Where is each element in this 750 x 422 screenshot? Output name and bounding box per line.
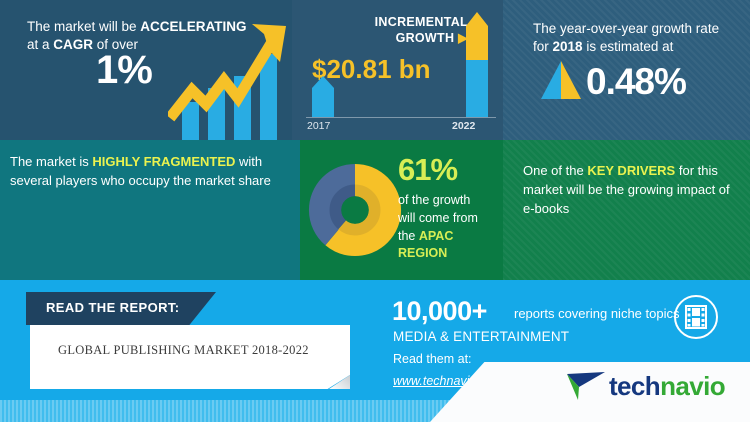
fragmentation-text: The market is HIGHLY FRAGMENTED with sev… [10, 153, 298, 191]
report-title-card[interactable]: GLOBAL PUBLISHING MARKET 2018-2022 [30, 325, 350, 389]
yoy-headline: The year-over-year growth rate for 2018 … [533, 20, 748, 55]
incremental-growth-chart [306, 10, 496, 118]
incremental-chart-axis [306, 117, 496, 118]
read-the-report-tab: READ THE REPORT: [26, 292, 216, 325]
yoy-value: 0.48% [586, 58, 686, 106]
incremental-growth-panel: INCREMENTAL GROWTH ▶ $20.81 bn 2017 2022 [292, 0, 503, 140]
middle-row: The market is HIGHLY FRAGMENTED with sev… [0, 140, 750, 280]
film-strip-icon [673, 294, 719, 340]
drivers-text-1: One of the [523, 163, 587, 178]
incremental-axis-label-end: 2022 [452, 120, 475, 132]
market-fragmentation-panel: The market is HIGHLY FRAGMENTED with sev… [0, 140, 300, 280]
apac-sub-2: will come from [398, 211, 478, 225]
reports-caption: reports covering niche topics [514, 306, 679, 321]
key-drivers-text: One of the KEY DRIVERS for this market w… [523, 162, 738, 219]
report-title: GLOBAL PUBLISHING MARKET 2018-2022 [58, 343, 309, 358]
apac-share-donut [306, 154, 404, 266]
drivers-highlight: KEY DRIVERS [587, 163, 675, 178]
apac-value: 61% [398, 152, 457, 188]
reports-count: 10,000+ [392, 296, 487, 327]
triangle-up-icon [540, 60, 582, 100]
yoy-growth-panel: The year-over-year growth rate for 2018 … [503, 0, 750, 140]
logo-text-navio: navio [660, 371, 725, 401]
logo-text-tech: tech [609, 371, 660, 401]
cagr-text-1: The market will be [27, 19, 140, 34]
apac-sub-1: of the growth [398, 193, 470, 207]
yoy-year: 2018 [553, 39, 583, 54]
read-them-at-label: Read them at: [393, 352, 472, 366]
apac-region-bold: APAC [419, 229, 454, 243]
fragmentation-text-1: The market is [10, 154, 92, 169]
infographic-root: The market will be ACCELERATING at a CAG… [0, 0, 750, 422]
yoy-text-3: is estimated at [583, 39, 674, 54]
cagr-text-2: at a [27, 37, 53, 52]
fragmentation-highlight: HIGHLY FRAGMENTED [92, 154, 235, 169]
cagr-value: 1% [96, 44, 152, 96]
technavio-wordmark: technavio [609, 371, 725, 402]
cagr-panel: The market will be ACCELERATING at a CAG… [0, 0, 292, 140]
apac-growth-panel: 61% of the growth will come from the APA… [300, 140, 503, 280]
apac-region-bold-2: REGION [398, 246, 447, 260]
apac-sub-3: the [398, 229, 419, 243]
cagr-text-bold-2: CAGR [53, 37, 93, 52]
cagr-trend-chart [168, 18, 292, 140]
read-the-report-label: READ THE REPORT: [46, 300, 180, 315]
key-drivers-panel: One of the KEY DRIVERS for this market w… [503, 140, 750, 280]
report-category: MEDIA & ENTERTAINMENT [393, 329, 569, 344]
top-row: The market will be ACCELERATING at a CAG… [0, 0, 750, 140]
apac-description: of the growth will come from the APAC RE… [398, 192, 503, 263]
technavio-paper-plane-icon [565, 370, 607, 404]
yoy-text-1: The year-over-year growth rate [533, 21, 719, 36]
incremental-axis-label-start: 2017 [307, 120, 330, 132]
yoy-text-2: for [533, 39, 553, 54]
